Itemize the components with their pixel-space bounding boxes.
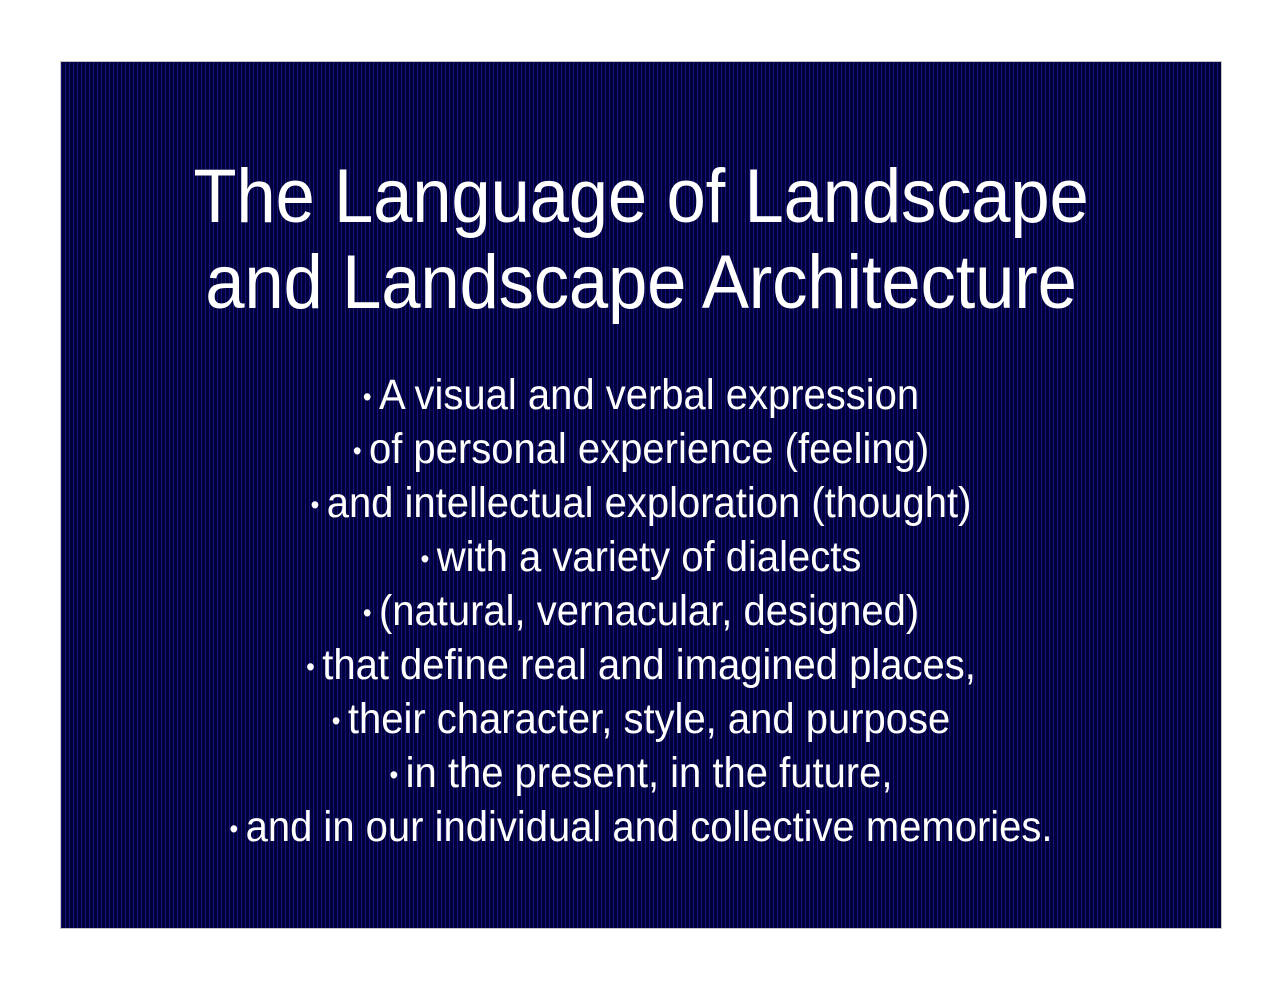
slide-title-line-2: and Landscape Architecture: [102, 240, 1181, 326]
bullet-dot-icon: •: [311, 492, 327, 519]
bullet-text-5: (natural, vernacular, designed): [379, 587, 919, 635]
bullet-dot-icon: •: [390, 762, 406, 789]
bullet-line-8: •in the present, in the future,: [102, 746, 1181, 800]
bullet-dot-icon: •: [229, 816, 245, 843]
bullet-line-4: •with a variety of dialects: [102, 530, 1181, 584]
bullet-line-9: •and in our individual and collective me…: [102, 800, 1181, 854]
bullet-dot-icon: •: [421, 546, 437, 573]
slide-title: The Language of Landscape and Landscape …: [61, 154, 1221, 326]
bullet-line-1: •A visual and verbal expression: [102, 368, 1181, 422]
bullet-line-6: •that define real and imagined places,: [102, 638, 1181, 692]
bullet-dot-icon: •: [353, 438, 369, 465]
bullet-text-7: their character, style, and purpose: [348, 695, 950, 743]
bullet-dot-icon: •: [332, 708, 348, 735]
bullet-text-8: in the present, in the future,: [406, 749, 893, 797]
page-canvas: The Language of Landscape and Landscape …: [0, 0, 1280, 989]
bullet-text-1: A visual and verbal expression: [379, 371, 919, 419]
bullet-line-2: •of personal experience (feeling): [102, 422, 1181, 476]
bullet-text-9: and in our individual and collective mem…: [246, 803, 1053, 851]
presentation-slide: The Language of Landscape and Landscape …: [60, 61, 1222, 929]
bullet-line-7: •their character, style, and purpose: [102, 692, 1181, 746]
bullet-text-2: of personal experience (feeling): [369, 425, 929, 473]
bullet-dot-icon: •: [363, 384, 379, 411]
bullet-dot-icon: •: [306, 654, 322, 681]
slide-bullet-list: •A visual and verbal expression •of pers…: [61, 368, 1221, 854]
bullet-text-4: with a variety of dialects: [437, 533, 862, 581]
bullet-text-6: that define real and imagined places,: [322, 641, 976, 689]
bullet-line-3: •and intellectual exploration (thought): [102, 476, 1181, 530]
bullet-dot-icon: •: [363, 600, 379, 627]
bullet-text-3: and intellectual exploration (thought): [327, 479, 972, 527]
bullet-line-5: •(natural, vernacular, designed): [102, 584, 1181, 638]
slide-title-line-1: The Language of Landscape: [102, 154, 1181, 240]
